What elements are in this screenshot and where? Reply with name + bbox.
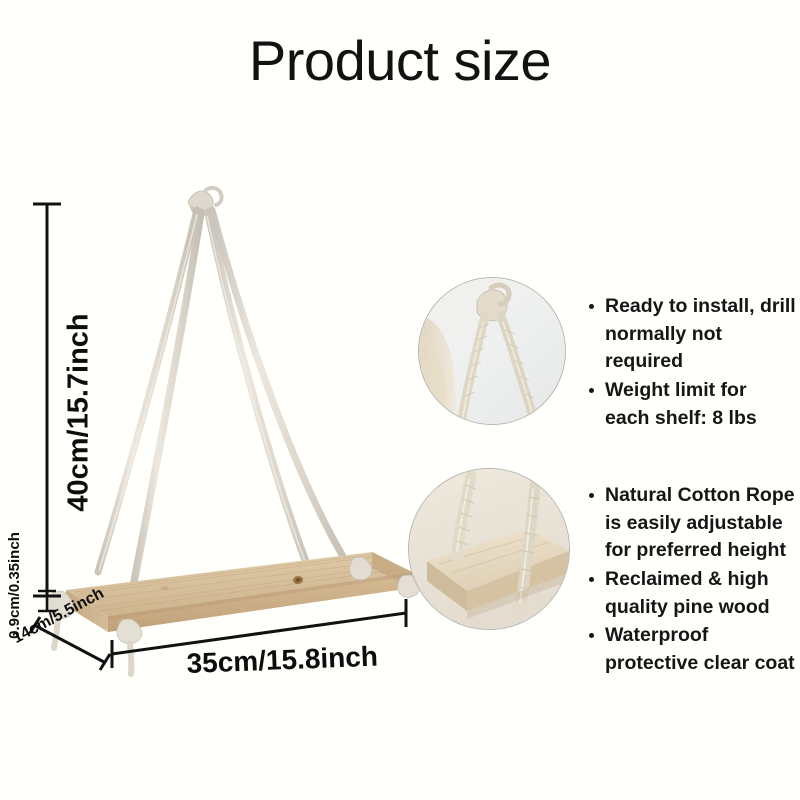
- page-title: Product size: [0, 32, 800, 91]
- bullet-icon: [589, 493, 594, 498]
- bullet-icon: [589, 388, 594, 393]
- feature-list-materials: Natural Cotton Rope is easily adjustable…: [588, 482, 798, 679]
- feature-list-install: Ready to install, drill normally not req…: [588, 293, 796, 433]
- bullet-icon: [589, 633, 594, 638]
- bullet-icon: [589, 304, 594, 309]
- rope-texture: [99, 214, 311, 577]
- feature-text: Reclaimed & high quality pine wood: [605, 568, 770, 618]
- list-item: Reclaimed & high quality pine wood: [588, 566, 798, 621]
- list-item: Weight limit for each shelf: 8 lbs: [588, 377, 796, 432]
- list-item: Natural Cotton Rope is easily adjustable…: [588, 482, 798, 565]
- product-size-infographic: Product size: [0, 0, 800, 800]
- list-item: Waterproof protective clear coat: [588, 622, 798, 677]
- bullet-icon: [589, 577, 594, 582]
- list-item: Ready to install, drill normally not req…: [588, 293, 796, 376]
- feature-text: Weight limit for each shelf: 8 lbs: [605, 379, 757, 429]
- feature-text: Natural Cotton Rope is easily adjustable…: [605, 484, 795, 561]
- inset-photo-rope-through-shelf: [408, 468, 570, 630]
- rope-strands: [98, 210, 345, 582]
- feature-text: Ready to install, drill normally not req…: [605, 295, 796, 372]
- inset-photo-rope-knot: [418, 277, 566, 425]
- feature-text: Waterproof protective clear coat: [605, 624, 795, 674]
- dimension-label-height: 40cm/15.7inch: [63, 293, 96, 533]
